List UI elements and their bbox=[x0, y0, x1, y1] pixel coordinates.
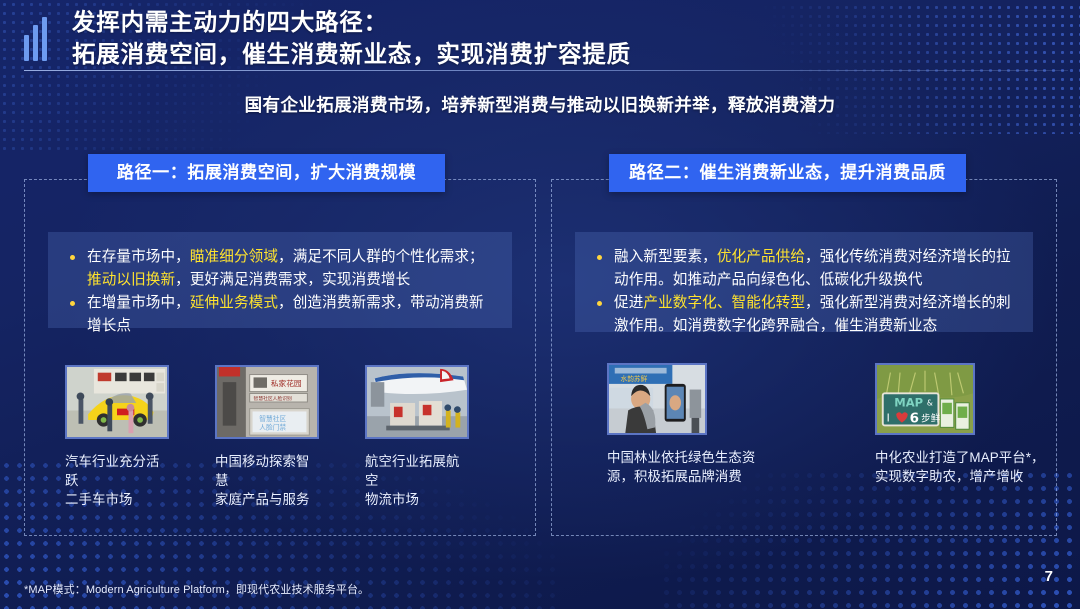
card-badge-right: 路径二：催生消费新业态，提升消费品质 bbox=[609, 154, 966, 192]
slide-subtitle: 国有企业拓展消费市场，培养新型消费与推动以旧换新并举，释放消费潜力 bbox=[0, 92, 1080, 117]
body-text: 促进 bbox=[614, 295, 643, 311]
thumbnail-caption: 中国林业依托绿色生态资 源，积极拓展品牌消费 bbox=[607, 448, 803, 486]
svg-text:&: & bbox=[927, 399, 933, 408]
thumbnail-item: 私家花园 智慧社区人脸识别 智慧社区 人脸门禁 中国移动探索智慧 家庭产品与服务 bbox=[215, 365, 319, 509]
bullet-item: 在增量市场中，延伸业务模式，创造消费新需求，带动消费新增长点 bbox=[64, 292, 496, 337]
thumbnail-caption: 中国移动探索智慧 家庭产品与服务 bbox=[215, 452, 319, 509]
card-badge-left: 路径一：拓展消费空间，扩大消费规模 bbox=[88, 154, 445, 192]
map-platform-field-sign-photo: MAP & I 6 步鲜 bbox=[875, 363, 975, 435]
highlighted-text: 推动以旧换新 bbox=[87, 272, 175, 288]
svg-text:步鲜: 步鲜 bbox=[921, 413, 941, 425]
body-text: 融入新型要素， bbox=[614, 249, 717, 265]
page-title-line-2: 拓展消费空间，催生消费新业态，实现消费扩容提质 bbox=[72, 38, 631, 70]
page-title: 发挥内需主动力的四大路径： 拓展消费空间，催生消费新业态，实现消费扩容提质 bbox=[72, 6, 631, 70]
air-cargo-loading-photo bbox=[365, 365, 469, 439]
thumbnail-item: MAP & I 6 步鲜 中化农业打造了MAP平台*， 实现数字助农，增产增收 bbox=[875, 363, 975, 486]
thumbnail-caption: 航空行业拓展航空 物流市场 bbox=[365, 452, 469, 509]
highlighted-text: 优化产品供给 bbox=[717, 249, 805, 265]
body-text: 在增量市场中， bbox=[87, 295, 190, 311]
slide-header: 发挥内需主动力的四大路径： 拓展消费空间，催生消费新业态，实现消费扩容提质 bbox=[0, 0, 1080, 78]
bullet-panel-left: 在存量市场中，瞄准细分领域，满足不同人群的个性化需求；推动以旧换新，更好满足消费… bbox=[48, 232, 512, 328]
bullet-item: 促进产业数字化、智能化转型，强化新型消费对经济增长的刺激作用。如消费数字化跨界融… bbox=[591, 292, 1017, 337]
thumbnail-item: 水韵苏鲜 中国林业依托绿色生态资 源，积极拓展品牌消费 bbox=[607, 363, 707, 486]
highlighted-text: 延伸业务模式 bbox=[190, 295, 278, 311]
livestream-selling-photo: 水韵苏鲜 bbox=[607, 363, 707, 435]
page-title-line-1: 发挥内需主动力的四大路径： bbox=[72, 6, 631, 38]
svg-text:人脸门禁: 人脸门禁 bbox=[259, 422, 286, 431]
slide-canvas: 发挥内需主动力的四大路径： 拓展消费空间，催生消费新业态，实现消费扩容提质 国有… bbox=[0, 0, 1080, 609]
page-number: 7 bbox=[1045, 568, 1053, 585]
body-text: 在存量市场中， bbox=[87, 249, 190, 265]
thumbnail-item: 汽车行业充分活跃 二手车市场 bbox=[65, 365, 169, 509]
thumbnail-item: 航空行业拓展航空 物流市场 bbox=[365, 365, 469, 509]
title-divider bbox=[24, 70, 1068, 71]
body-text: ，满足不同人群的个性化需求； bbox=[278, 249, 484, 265]
path-card-left: 路径一：拓展消费空间，扩大消费规模 在存量市场中，瞄准细分领域，满足不同人群的个… bbox=[24, 179, 536, 536]
svg-text:私家花园: 私家花园 bbox=[271, 378, 302, 388]
svg-text:智慧社区: 智慧社区 bbox=[259, 414, 286, 423]
bullet-item: 在存量市场中，瞄准细分领域，满足不同人群的个性化需求；推动以旧换新，更好满足消费… bbox=[64, 246, 496, 291]
svg-text:6: 6 bbox=[910, 412, 919, 427]
thumbnail-caption: 中化农业打造了MAP平台*， 实现数字助农，增产增收 bbox=[875, 448, 1071, 486]
thumbnail-row-left: 汽车行业充分活跃 二手车市场 私家花园 智慧社区人脸识别 bbox=[25, 365, 535, 509]
svg-text:水韵苏鲜: 水韵苏鲜 bbox=[621, 374, 648, 383]
thumbnail-caption: 汽车行业充分活跃 二手车市场 bbox=[65, 452, 169, 509]
highlighted-text: 产业数字化、智能化转型 bbox=[643, 295, 805, 311]
svg-text:I: I bbox=[887, 413, 890, 425]
path-card-right: 路径二：催生消费新业态，提升消费品质 融入新型要素，优化产品供给，强化传统消费对… bbox=[551, 179, 1057, 536]
bullet-item: 融入新型要素，优化产品供给，强化传统消费对经济增长的拉动作用。如推动产品向绿色化… bbox=[591, 246, 1017, 291]
footnote: *MAP模式：Modern Agriculture Platform，即现代农业… bbox=[24, 581, 369, 597]
smart-community-kiosk-photo: 私家花园 智慧社区人脸识别 智慧社区 人脸门禁 bbox=[215, 365, 319, 439]
yellow-car-on-calculator-photo bbox=[65, 365, 169, 439]
bullet-panel-right: 融入新型要素，优化产品供给，强化传统消费对经济增长的拉动作用。如推动产品向绿色化… bbox=[575, 232, 1033, 332]
bar-chart-logo-icon bbox=[24, 17, 54, 61]
highlighted-text: 瞄准细分领域 bbox=[190, 249, 278, 265]
body-text: ，更好满足消费需求，实现消费增长 bbox=[175, 272, 410, 288]
thumbnail-row-right: 水韵苏鲜 中国林业依托绿色生态资 源，积极拓展品牌消费 bbox=[552, 363, 1056, 486]
svg-text:MAP: MAP bbox=[894, 396, 923, 410]
